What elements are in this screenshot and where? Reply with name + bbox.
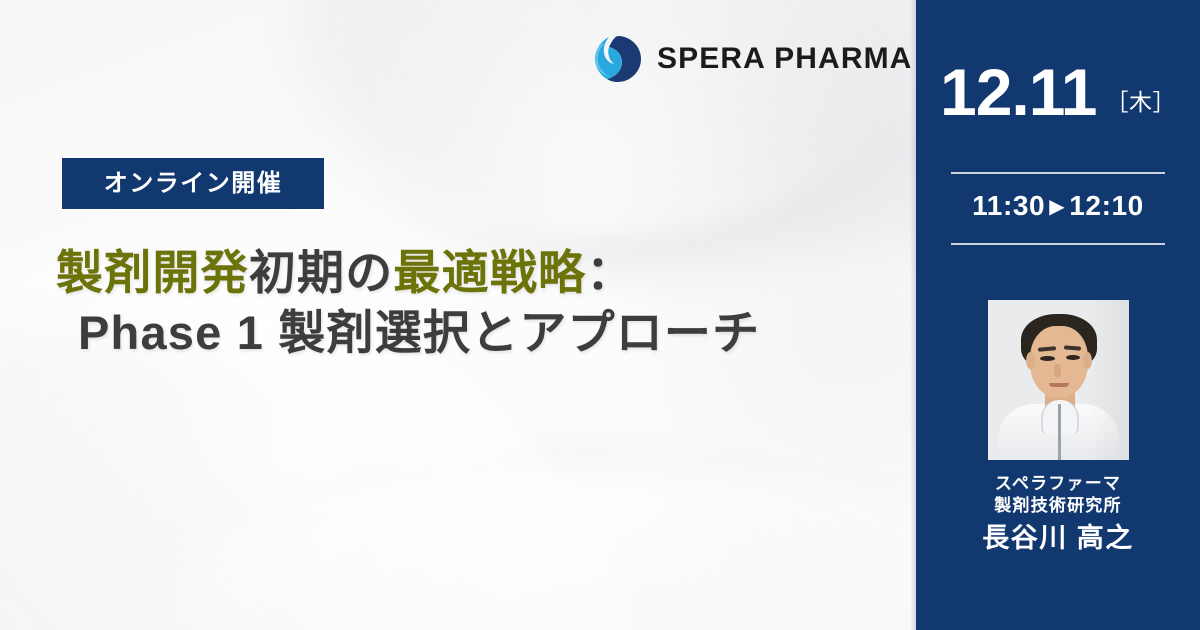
- event-time-end: 12:10: [1069, 190, 1144, 221]
- online-event-badge: オンライン開催: [62, 158, 324, 209]
- seminar-banner: SPERA PHARMA オンライン開催 製剤開発初期の最適戦略： Phase …: [0, 0, 1200, 630]
- online-event-badge-label: オンライン開催: [104, 172, 283, 196]
- speaker-photo: [988, 300, 1129, 460]
- seminar-title-line-1: 製剤開発初期の最適戦略：: [56, 243, 916, 303]
- speaker-block: スペラファーマ 製剤技術研究所 長谷川 高之: [916, 300, 1200, 554]
- speaker-name: 長谷川 高之: [916, 523, 1200, 554]
- event-time: 11:30▶12:10: [916, 190, 1200, 222]
- seminar-title-line-2: Phase 1 製剤選択とアプローチ: [56, 303, 916, 363]
- divider-top: [951, 172, 1165, 174]
- title-segment-colon: ：: [586, 246, 634, 299]
- photo-shadow: [1089, 300, 1129, 460]
- event-time-start: 11:30: [972, 190, 1045, 221]
- event-date-value: 12.11: [940, 62, 1097, 123]
- info-panel: 12.11 ［木］ 11:30▶12:10: [916, 0, 1200, 630]
- brand-wordmark: SPERA PHARMA: [657, 44, 912, 74]
- speaker-company: スペラファーマ: [916, 473, 1200, 495]
- photo-ear-left: [1026, 352, 1035, 369]
- speaker-department: 製剤技術研究所: [916, 495, 1200, 517]
- seminar-title: 製剤開発初期の最適戦略： Phase 1 製剤選択とアプローチ: [56, 243, 916, 363]
- photo-face: [1030, 326, 1088, 398]
- event-day-of-week: ［木］: [1106, 91, 1177, 123]
- title-segment-dark-1: 初期の: [249, 246, 394, 299]
- spera-logo-icon: [592, 33, 644, 85]
- title-segment-olive-1: 製剤開発: [56, 246, 249, 299]
- photo-eye-right: [1066, 355, 1080, 360]
- photo-eye-left: [1040, 356, 1055, 361]
- title-segment-olive-2: 最適戦略: [393, 246, 586, 299]
- photo-mouth: [1049, 383, 1069, 387]
- event-date: 12.11 ［木］: [916, 62, 1200, 123]
- time-arrow-icon: ▶: [1045, 196, 1069, 218]
- photo-zipper: [1058, 404, 1061, 460]
- photo-nose: [1054, 364, 1061, 377]
- brand-logo: SPERA PHARMA: [592, 33, 912, 85]
- divider-bottom: [951, 243, 1165, 245]
